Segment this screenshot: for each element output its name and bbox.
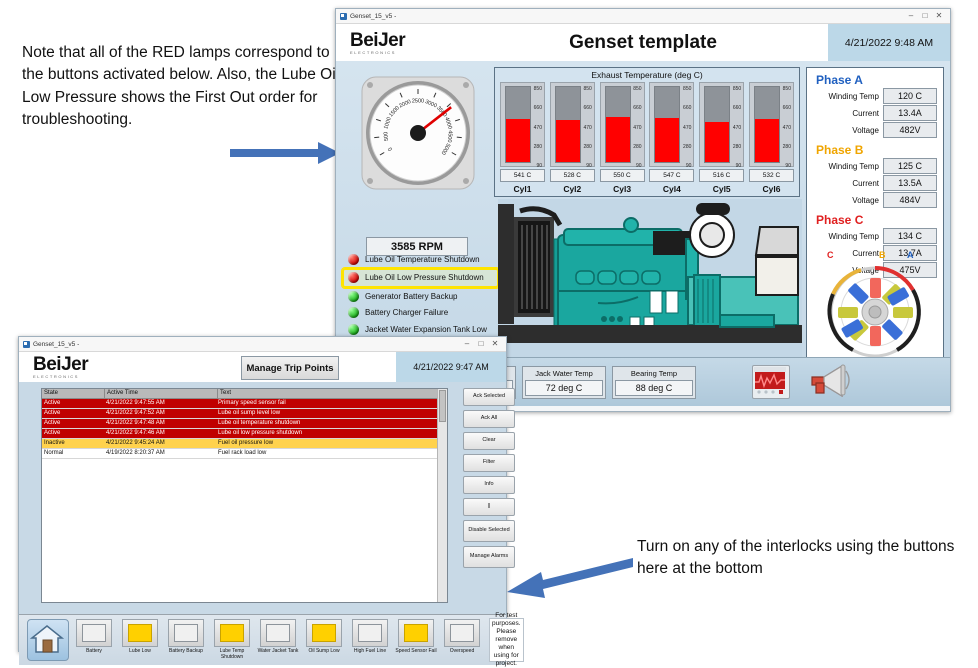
- alarm-header: BeiJer ELECTRONICS Manage Trip Points 4/…: [19, 352, 506, 382]
- status-lamp-green-icon: [348, 307, 359, 318]
- phase-reading-label: Current: [852, 179, 879, 188]
- alarm-text-cell: Lube oil sump level low: [216, 409, 447, 418]
- interlock-button-face[interactable]: [444, 619, 480, 647]
- alarm-time-cell: 4/21/2022 9:47:52 AM: [104, 409, 216, 418]
- exhaust-bar: 85066047028090: [600, 82, 645, 167]
- exhaust-bar-tube: [704, 86, 730, 163]
- alarm-text-cell: Fuel oil pressure low: [216, 439, 447, 448]
- column-header-text[interactable]: Text: [218, 389, 447, 398]
- exhaust-label: Cyl2: [550, 184, 595, 194]
- status-lamp-green-icon: [348, 324, 359, 335]
- exhaust-bar: 85066047028090: [749, 82, 794, 167]
- interlock-indicator: [128, 624, 152, 642]
- exhaust-bar-fill: [655, 118, 679, 162]
- exhaust-bar-scale: 85066047028090: [631, 83, 644, 166]
- phase-reading-value: 120 C: [883, 88, 937, 104]
- phase-heading: Phase C: [816, 213, 943, 227]
- annotation-arrow-top: [230, 140, 342, 166]
- phase-reading-row: Current13.4A: [807, 105, 937, 121]
- rotor-phase-labels: CBA: [821, 250, 929, 262]
- table-row[interactable]: Normal4/19/2022 8:20:37 AMFuel rack load…: [42, 449, 447, 459]
- beijer-logo: BeiJer ELECTRONICS: [350, 31, 436, 55]
- interlock-button[interactable]: High Fuel Line: [349, 619, 391, 661]
- alarm-action-button[interactable]: Ack Selected: [463, 388, 515, 406]
- exhaust-label: Cyl4: [649, 184, 694, 194]
- meter-readout: Jack Water Temp72 deg C: [522, 366, 606, 399]
- interlock-button[interactable]: Speed Sensor Fail: [395, 619, 437, 661]
- table-row[interactable]: Active4/21/2022 9:47:52 AMLube oil sump …: [42, 409, 447, 419]
- minimize-icon[interactable]: –: [460, 339, 474, 349]
- alarm-window-titlebar: Genset_15_v5 - – □ ✕: [19, 337, 506, 352]
- interlock-button[interactable]: Lube Temp Shutdown: [211, 619, 253, 661]
- interlock-label: Overspeed: [441, 649, 483, 655]
- alarm-lamp-row: Battery Charger Failure: [344, 305, 499, 322]
- meter-value: 88 deg C: [615, 380, 693, 396]
- status-lamp-red-icon: [348, 272, 359, 283]
- app-icon: [340, 13, 347, 20]
- interlock-button[interactable]: Overspeed: [441, 619, 483, 661]
- alarm-state-cell: Inactive: [42, 439, 104, 448]
- trend-chart-icon[interactable]: [752, 365, 790, 399]
- interlock-button[interactable]: Oil Sump Low: [303, 619, 345, 661]
- exhaust-value: 528 C: [550, 169, 595, 182]
- phase-reading-label: Winding Temp: [828, 92, 879, 101]
- exhaust-value: 541 C: [500, 169, 545, 182]
- rpm-gauge-dial: 0500100015002000250030003500400045005000: [348, 69, 486, 234]
- alarm-time-cell: 4/21/2022 9:45:24 AM: [104, 439, 216, 448]
- logo-text: BeiJer: [33, 354, 88, 375]
- phase-reading-value: 125 C: [883, 158, 937, 174]
- interlock-toolbar: BatteryLube LowBattery BackupLube Temp S…: [19, 614, 506, 665]
- app-icon: [23, 341, 30, 348]
- exhaust-cylinder: 85066047028090547 CCyl4: [649, 82, 694, 194]
- meter-label: Jack Water Temp: [525, 369, 603, 378]
- svg-text:500: 500: [383, 131, 390, 141]
- alarm-action-button[interactable]: Manage Alarms: [463, 546, 515, 568]
- alarm-header-clock: 4/21/2022 9:47 AM: [396, 352, 506, 382]
- exhaust-temperature-panel: Exhaust Temperature (deg C) 850660470280…: [494, 67, 800, 197]
- alarm-time-cell: 4/21/2022 9:47:48 AM: [104, 419, 216, 428]
- interlock-button-face[interactable]: [214, 619, 250, 647]
- logo-subtext: ELECTRONICS: [350, 51, 436, 55]
- meter-readout: Bearing Temp88 deg C: [612, 366, 696, 399]
- alarm-lamp-row: Generator Battery Backup: [344, 288, 499, 305]
- alarm-action-button[interactable]: Info: [463, 476, 515, 494]
- interlock-indicator: [404, 624, 428, 642]
- maximize-icon[interactable]: □: [474, 339, 488, 349]
- alarm-lamp-label: Jacket Water Expansion Tank Low: [365, 325, 487, 334]
- rotor-diagram: [821, 264, 929, 360]
- exhaust-bar-tube: [654, 86, 680, 163]
- alarm-state-cell: Active: [42, 409, 104, 418]
- interlock-button-face[interactable]: [398, 619, 434, 647]
- exhaust-value: 516 C: [699, 169, 744, 182]
- interlock-label: Water Jacket Tank: [257, 649, 299, 655]
- annotation-top-text: Note that all of the RED lamps correspon…: [22, 42, 342, 132]
- interlock-indicator: [220, 624, 244, 642]
- exhaust-bar-scale: 85066047028090: [680, 83, 693, 166]
- alarm-action-button[interactable]: Clear: [463, 432, 515, 450]
- annotation-bottom-text: Turn on any of the interlocks using the …: [637, 536, 967, 581]
- logo-text: BeiJer: [350, 30, 405, 51]
- close-icon[interactable]: ✕: [488, 339, 502, 349]
- alarm-viewer-window: Genset_15_v5 - – □ ✕ BeiJer ELECTRONICS …: [18, 336, 507, 652]
- exhaust-bar-fill: [506, 119, 530, 163]
- phase-reading-label: Current: [852, 109, 879, 118]
- column-header-state[interactable]: State: [42, 389, 105, 398]
- interlock-label: High Fuel Line: [349, 649, 391, 655]
- phase-reading-label: Winding Temp: [828, 162, 879, 171]
- exhaust-cylinder: 85066047028090528 CCyl2: [550, 82, 595, 194]
- alarm-lamp-row: Lube Oil Low Pressure Shutdown: [342, 268, 499, 289]
- table-row[interactable]: Active4/21/2022 9:47:46 AMLube oil low p…: [42, 429, 447, 439]
- minimize-icon[interactable]: –: [904, 11, 918, 21]
- interlock-button-face[interactable]: [260, 619, 296, 647]
- exhaust-label: Cyl1: [500, 184, 545, 194]
- interlock-button-face[interactable]: [168, 619, 204, 647]
- alarm-grid[interactable]: State Active Time Text Active4/21/2022 9…: [41, 388, 448, 603]
- phase-reading-label: Voltage: [852, 196, 879, 205]
- alarm-state-cell: Active: [42, 399, 104, 408]
- rpm-gauge: 0500100015002000250030003500400045005000…: [348, 69, 486, 249]
- interlock-indicator: [266, 624, 290, 642]
- alarm-text-cell: Fuel rack load low: [216, 449, 447, 458]
- interlock-indicator: [174, 624, 198, 642]
- exhaust-bar-scale: 85066047028090: [780, 83, 793, 166]
- alarm-time-cell: 4/19/2022 8:20:37 AM: [104, 449, 216, 458]
- meter-label: Bearing Temp: [615, 369, 693, 378]
- alarm-body: State Active Time Text Active4/21/2022 9…: [19, 382, 506, 665]
- exhaust-cylinder-row: 85066047028090541 CCyl185066047028090528…: [495, 80, 799, 194]
- generator-engine-image: [498, 199, 802, 359]
- alarm-window-title: Genset_15_v5 -: [33, 341, 79, 348]
- svg-text:2500: 2500: [412, 98, 424, 104]
- interlock-button-face[interactable]: [352, 619, 388, 647]
- alarm-lamp-label: Generator Battery Backup: [365, 292, 458, 301]
- maximize-icon[interactable]: □: [918, 11, 932, 21]
- alarm-text-cell: Lube oil temperature shutdown: [216, 419, 447, 428]
- interlock-label: Battery Backup: [165, 649, 207, 655]
- exhaust-label: Cyl3: [600, 184, 645, 194]
- interlock-label: Lube Temp Shutdown: [211, 649, 253, 661]
- interlock-button[interactable]: Battery Backup: [165, 619, 207, 661]
- exhaust-bar-scale: 85066047028090: [531, 83, 544, 166]
- alarm-time-cell: 4/21/2022 9:47:55 AM: [104, 399, 216, 408]
- alarm-grid-header: State Active Time Text: [42, 389, 447, 399]
- phase-heading: Phase A: [816, 73, 943, 87]
- interlock-indicator: [82, 624, 106, 642]
- interlock-label: Speed Sensor Fail: [395, 649, 437, 655]
- interlock-label: Battery: [73, 649, 115, 655]
- alarm-grid-scrollbar[interactable]: [437, 389, 447, 602]
- interlock-indicator: [312, 624, 336, 642]
- alarm-text-cell: Lube oil low pressure shutdown: [216, 429, 447, 438]
- interlock-button[interactable]: Water Jacket Tank: [257, 619, 299, 661]
- interlock-button-face[interactable]: [76, 619, 112, 647]
- phase-reading-row: Winding Temp134 C: [807, 228, 937, 244]
- exhaust-cylinder: 85066047028090532 CCyl6: [749, 82, 794, 194]
- main-window-titlebar: Genset_15_v5 - – □ ✕: [336, 9, 950, 24]
- exhaust-bar-tube: [505, 86, 531, 163]
- exhaust-bar-tube: [555, 86, 581, 163]
- megaphone-icon[interactable]: [810, 363, 854, 402]
- phase-reading-label: Winding Temp: [828, 232, 879, 241]
- phase-reading-row: Current13.5A: [807, 175, 937, 191]
- header-clock: 4/21/2022 9:48 AM: [828, 24, 950, 61]
- exhaust-bar-scale: 85066047028090: [730, 83, 743, 166]
- alarm-state-cell: Normal: [42, 449, 104, 458]
- rotor-phase-label: C: [827, 250, 834, 260]
- exhaust-bar-fill: [705, 122, 729, 163]
- logo-subtext: ELECTRONICS: [33, 375, 119, 379]
- interlock-button-face[interactable]: [306, 619, 342, 647]
- exhaust-bar-fill: [755, 119, 779, 162]
- phase-reading-value: 13.5A: [883, 175, 937, 191]
- interlock-label: Oil Sump Low: [303, 649, 345, 655]
- rotor-phase-label: A: [907, 250, 914, 260]
- exhaust-bar-tube: [754, 86, 780, 163]
- alarm-lamp-row: Lube Oil Temperature Shutdown: [344, 251, 499, 268]
- interlock-indicator: [358, 624, 382, 642]
- phase-reading-label: Voltage: [852, 126, 879, 135]
- exhaust-bar: 85066047028090: [550, 82, 595, 167]
- exhaust-value: 547 C: [649, 169, 694, 182]
- exhaust-bar-fill: [556, 120, 580, 162]
- phase-reading-value: 484V: [883, 192, 937, 208]
- alarm-text-cell: Primary speed sensor fail: [216, 399, 447, 408]
- table-row[interactable]: Active4/21/2022 9:47:55 AMPrimary speed …: [42, 399, 447, 409]
- home-icon[interactable]: [27, 619, 69, 661]
- phase-reading-value: 482V: [883, 122, 937, 138]
- hmi-header: BeiJer ELECTRONICS Genset template 4/21/…: [336, 24, 950, 61]
- alarm-lamp-label: Lube Oil Temperature Shutdown: [365, 255, 480, 264]
- phase-reading-value: 13.4A: [883, 105, 937, 121]
- exhaust-bar: 85066047028090: [649, 82, 694, 167]
- exhaust-cylinder: 85066047028090550 CCyl3: [600, 82, 645, 194]
- exhaust-cylinder: 85066047028090516 CCyl5: [699, 82, 744, 194]
- phase-reading-row: Winding Temp125 C: [807, 158, 937, 174]
- manage-trip-points-button[interactable]: Manage Trip Points: [241, 356, 339, 380]
- svg-text:4500: 4500: [446, 130, 453, 143]
- alarm-lamp-label: Battery Charger Failure: [365, 308, 448, 317]
- exhaust-bar-tube: [605, 86, 631, 163]
- exhaust-label: Cyl5: [699, 184, 744, 194]
- rotor-phase-label: B: [879, 250, 886, 260]
- alarm-state-cell: Active: [42, 419, 104, 428]
- exhaust-bar-scale: 85066047028090: [581, 83, 594, 166]
- phase-reading-row: Voltage484V: [807, 192, 937, 208]
- alarm-action-button[interactable]: ||: [463, 498, 515, 516]
- exhaust-bar-fill: [606, 117, 630, 162]
- alarm-lamp-label: Lube Oil Low Pressure Shutdown: [365, 273, 484, 282]
- interlock-button[interactable]: Lube Low: [119, 619, 161, 661]
- annotation-arrow-bottom: [505, 558, 633, 600]
- meter-value: 72 deg C: [525, 380, 603, 396]
- phase-reading-row: Voltage482V: [807, 122, 937, 138]
- alarm-state-cell: Active: [42, 429, 104, 438]
- interlock-indicator: [450, 624, 474, 642]
- alarm-action-button[interactable]: Ack All: [463, 410, 515, 428]
- status-lamp-red-icon: [348, 254, 359, 265]
- alarm-time-cell: 4/21/2022 9:47:46 AM: [104, 429, 216, 438]
- exhaust-panel-title: Exhaust Temperature (deg C): [495, 68, 799, 80]
- alarm-action-buttons: Ack SelectedAck AllClearFilterInfo||Disa…: [463, 388, 515, 572]
- interlock-button-face[interactable]: [122, 619, 158, 647]
- interlock-label: Lube Low: [119, 649, 161, 655]
- main-window-title: Genset_15_v5 -: [350, 13, 396, 20]
- interlock-button[interactable]: Battery: [73, 619, 115, 661]
- table-row[interactable]: Active4/21/2022 9:47:48 AM Lube oil temp…: [42, 419, 447, 429]
- exhaust-bar: 85066047028090: [699, 82, 744, 167]
- exhaust-value: 550 C: [600, 169, 645, 182]
- phase-reading-value: 134 C: [883, 228, 937, 244]
- close-icon[interactable]: ✕: [932, 11, 946, 21]
- alarm-action-button[interactable]: Disable Selected: [463, 520, 515, 542]
- status-lamp-green-icon: [348, 291, 359, 302]
- table-row[interactable]: Inactive4/21/2022 9:45:24 AMFuel oil pre…: [42, 439, 447, 449]
- test-note: For test purposes. Please remove when us…: [489, 618, 524, 662]
- exhaust-bar: 85066047028090: [500, 82, 545, 167]
- exhaust-label: Cyl6: [749, 184, 794, 194]
- phase-heading: Phase B: [816, 143, 943, 157]
- phase-readings-panel: Phase AWinding Temp120 CCurrent13.4AVolt…: [806, 67, 944, 361]
- alarm-action-button[interactable]: Filter: [463, 454, 515, 472]
- beijer-logo: BeiJer ELECTRONICS: [33, 355, 119, 379]
- column-header-active-time[interactable]: Active Time: [105, 389, 218, 398]
- exhaust-value: 532 C: [749, 169, 794, 182]
- phase-reading-row: Winding Temp120 C: [807, 88, 937, 104]
- exhaust-cylinder: 85066047028090541 CCyl1: [500, 82, 545, 194]
